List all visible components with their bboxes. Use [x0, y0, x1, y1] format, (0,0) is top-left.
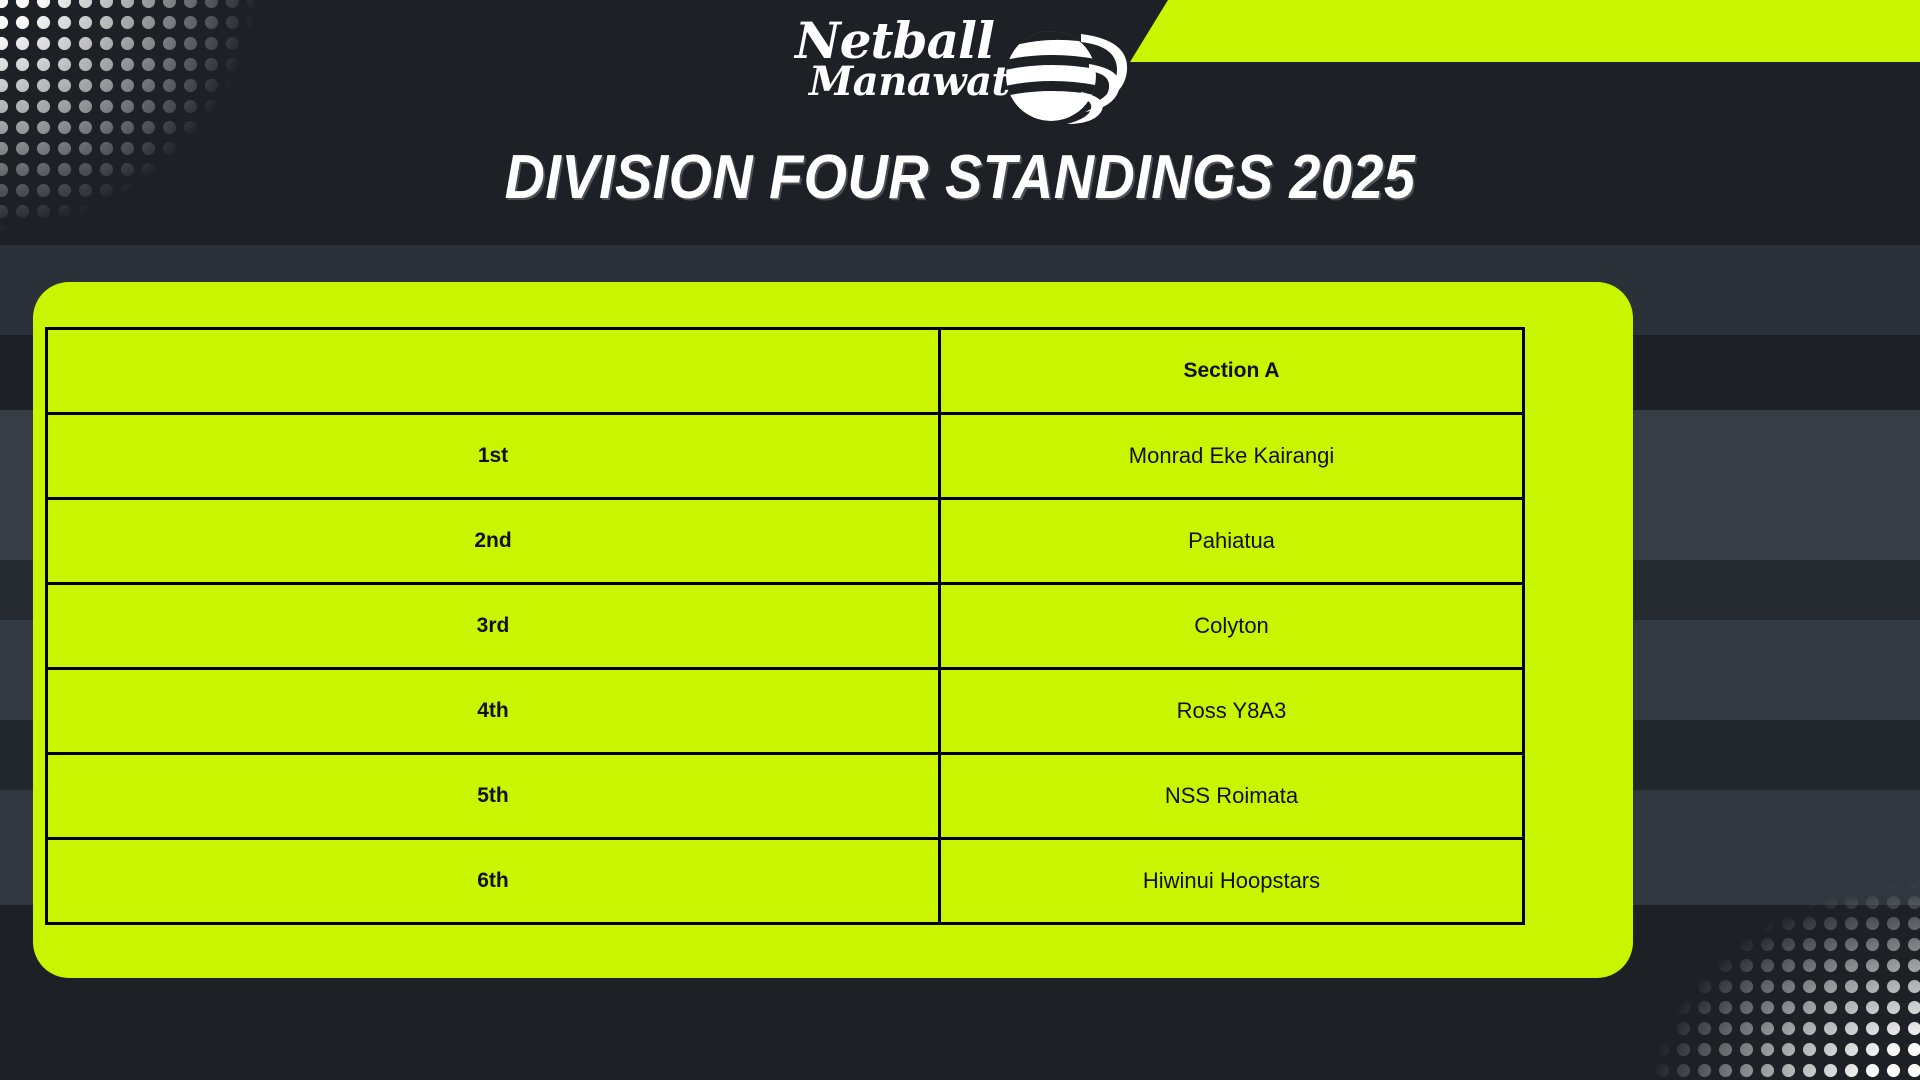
table-header-row: Section A	[47, 329, 1524, 414]
cell-rank: 4th	[47, 669, 940, 754]
green-slant-banner	[1130, 0, 1920, 62]
cell-rank: 6th	[47, 839, 940, 924]
cell-rank: 2nd	[47, 499, 940, 584]
cell-team: Hiwinui Hoopstars	[940, 839, 1524, 924]
column-header-section: Section A	[940, 329, 1524, 414]
cell-team: Ross Y8A3	[940, 669, 1524, 754]
cell-team: Monrad Eke Kairangi	[940, 414, 1524, 499]
cell-rank: 1st	[47, 414, 940, 499]
cell-rank: 3rd	[47, 584, 940, 669]
cell-team: Colyton	[940, 584, 1524, 669]
table-row: 6th Hiwinui Hoopstars	[47, 839, 1524, 924]
table-row: 4th Ross Y8A3	[47, 669, 1524, 754]
cell-team: NSS Roimata	[940, 754, 1524, 839]
column-header-rank	[47, 329, 940, 414]
standings-poster: Netball Manawatu DIVISION FOUR STANDINGS…	[0, 0, 1920, 1080]
standings-table-body: 1st Monrad Eke Kairangi 2nd Pahiatua 3rd…	[47, 414, 1524, 924]
table-row: 3rd Colyton	[47, 584, 1524, 669]
cell-team: Pahiatua	[940, 499, 1524, 584]
netball-swirl-icon	[989, 24, 1139, 129]
cell-rank: 5th	[47, 754, 940, 839]
table-row: 5th NSS Roimata	[47, 754, 1524, 839]
page-title: DIVISION FOUR STANDINGS 2025	[96, 142, 1824, 213]
table-row: 2nd Pahiatua	[47, 499, 1524, 584]
table-row: 1st Monrad Eke Kairangi	[47, 414, 1524, 499]
standings-table: Section A 1st Monrad Eke Kairangi 2nd Pa…	[45, 327, 1525, 925]
netball-manawatu-logo: Netball Manawatu	[795, 18, 1135, 133]
